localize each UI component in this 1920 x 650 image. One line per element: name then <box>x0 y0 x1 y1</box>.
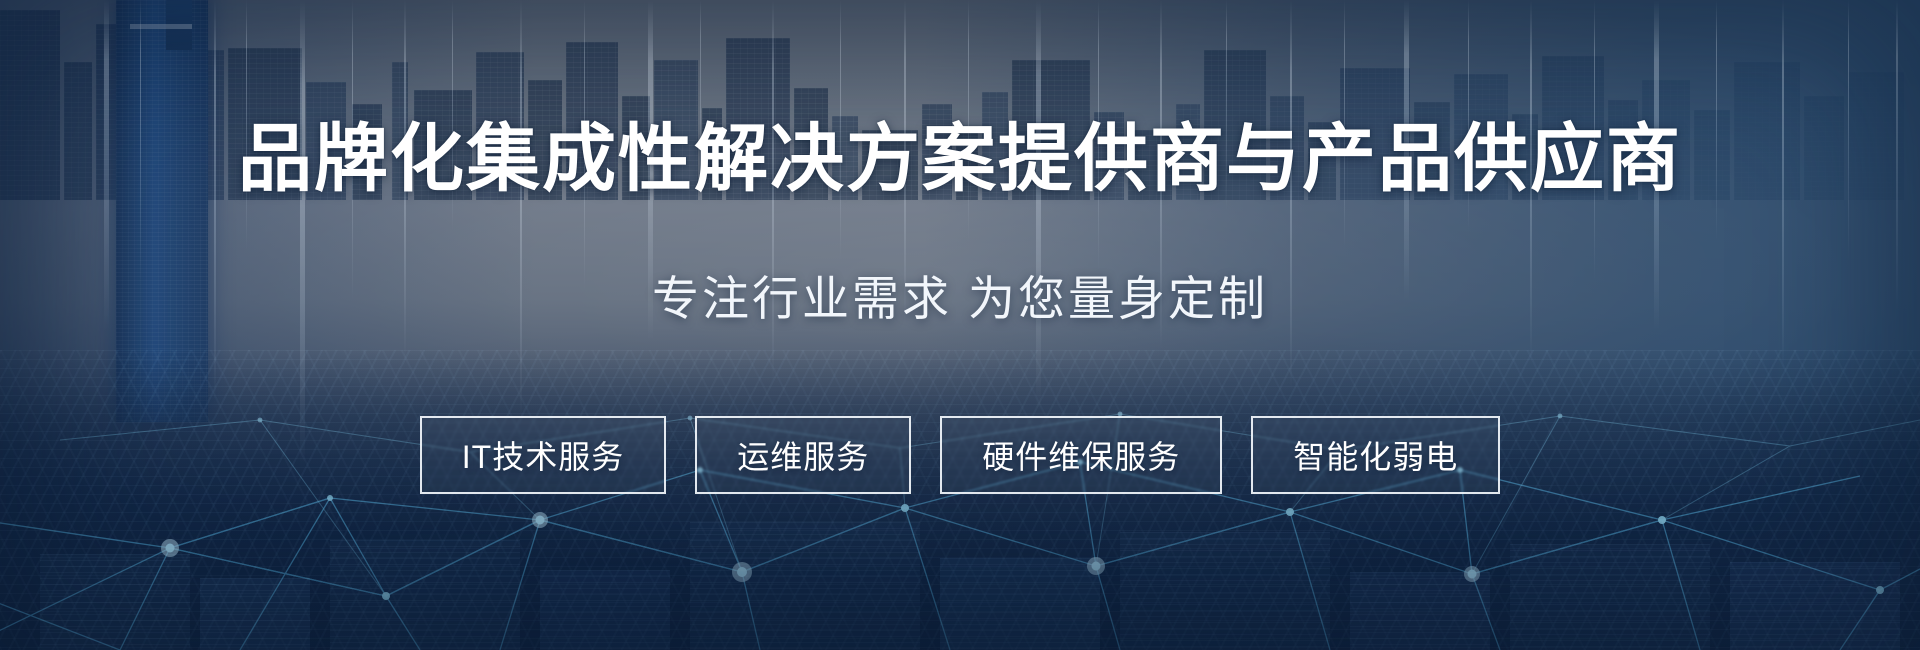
cta-button-ops-service[interactable]: 运维服务 <box>695 416 911 494</box>
cta-button-it-service[interactable]: IT技术服务 <box>420 416 666 494</box>
page-subtitle: 专注行业需求 为您量身定制 <box>652 275 1268 322</box>
cta-button-hardware-maintenance[interactable]: 硬件维保服务 <box>940 416 1222 494</box>
cta-button-smart-low-voltage[interactable]: 智能化弱电 <box>1251 416 1500 494</box>
page-title: 品牌化集成性解决方案提供商与产品供应商 <box>238 122 1682 196</box>
hero-banner: 品牌化集成性解决方案提供商与产品供应商 专注行业需求 为您量身定制 IT技术服务… <box>0 0 1920 650</box>
banner-content: 品牌化集成性解决方案提供商与产品供应商 专注行业需求 为您量身定制 IT技术服务… <box>0 0 1920 650</box>
service-button-row: IT技术服务 运维服务 硬件维保服务 智能化弱电 <box>420 416 1501 494</box>
